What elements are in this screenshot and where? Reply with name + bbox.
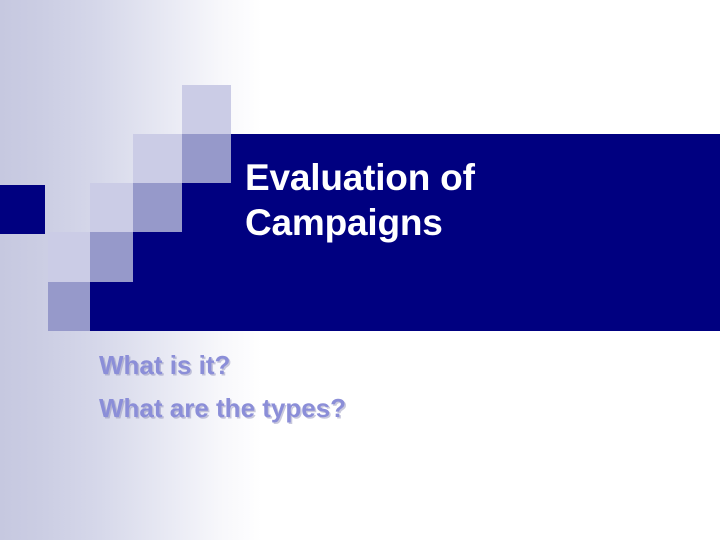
title-band-step-4 (90, 282, 720, 331)
subtitle-line-1: What is it? (99, 344, 659, 387)
presentation-slide: Evaluation of Campaigns What is it? What… (0, 0, 720, 540)
subtitle-line-2: What are the types? (99, 387, 659, 430)
slide-title: Evaluation of Campaigns (245, 155, 685, 245)
title-band (0, 0, 720, 540)
slide-subtitle: What is it? What are the types? (99, 344, 659, 430)
